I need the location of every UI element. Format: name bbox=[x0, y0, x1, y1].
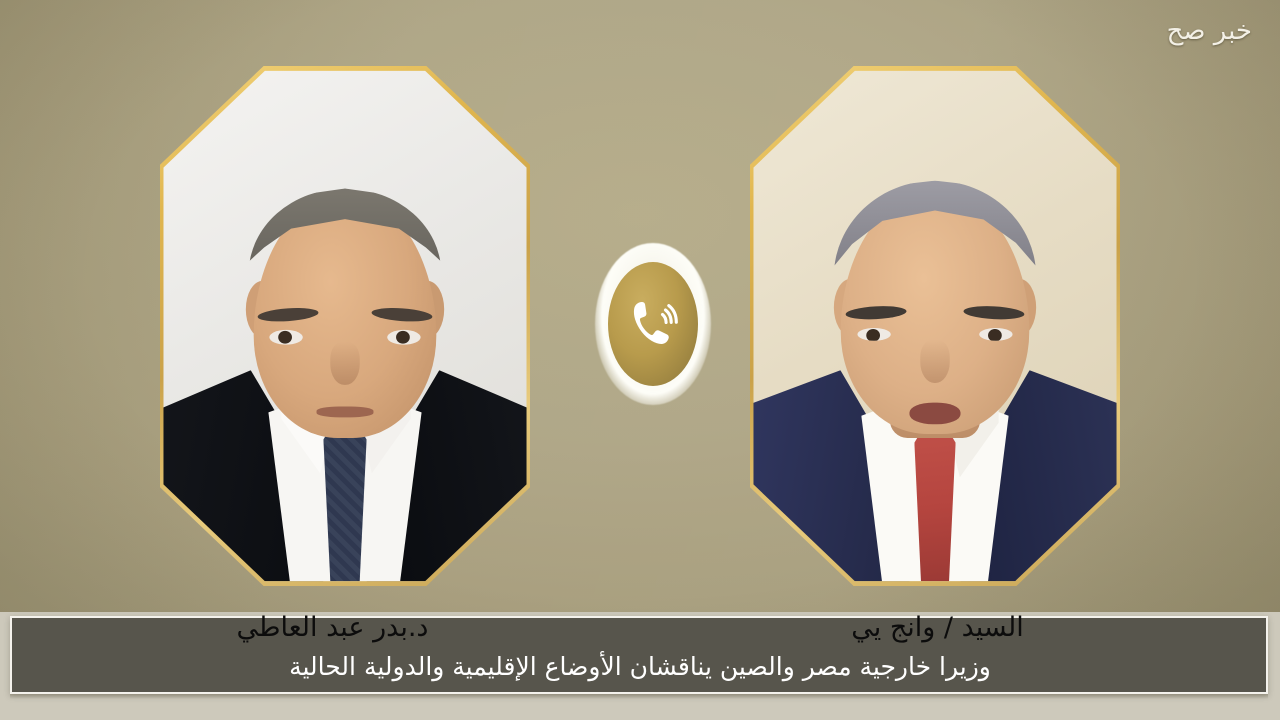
portrait-left bbox=[160, 66, 530, 586]
eye-left-r bbox=[387, 330, 420, 345]
participant-name-left: د.بدر عبد العاطي bbox=[0, 605, 635, 655]
nose-left bbox=[330, 342, 359, 385]
participant-names-row: السيد / وانج يي د.بدر عبد العاطي bbox=[0, 605, 1280, 655]
phone-call-icon bbox=[621, 292, 685, 356]
lower-third-shadow bbox=[10, 694, 1268, 699]
eye-left-l bbox=[269, 330, 302, 345]
phone-call-badge bbox=[595, 243, 711, 405]
mouth-right bbox=[909, 403, 960, 425]
broadcast-graphic: خبر صح bbox=[0, 0, 1280, 720]
octagon-photo-right bbox=[753, 71, 1116, 582]
eye-right-l bbox=[857, 328, 890, 341]
eye-right-r bbox=[979, 328, 1012, 341]
caption-headline: وزيرا خارجية مصر والصين يناقشان الأوضاع … bbox=[0, 652, 1280, 681]
channel-watermark: خبر صح bbox=[1167, 16, 1252, 46]
call-badge-disc bbox=[608, 262, 698, 386]
mouth-left bbox=[317, 407, 374, 418]
octagon-photo-left bbox=[163, 71, 526, 582]
nose-right bbox=[920, 340, 949, 383]
portrait-right bbox=[750, 66, 1120, 586]
tie-right bbox=[914, 416, 955, 581]
participant-name-right: السيد / وانج يي bbox=[635, 605, 1280, 655]
